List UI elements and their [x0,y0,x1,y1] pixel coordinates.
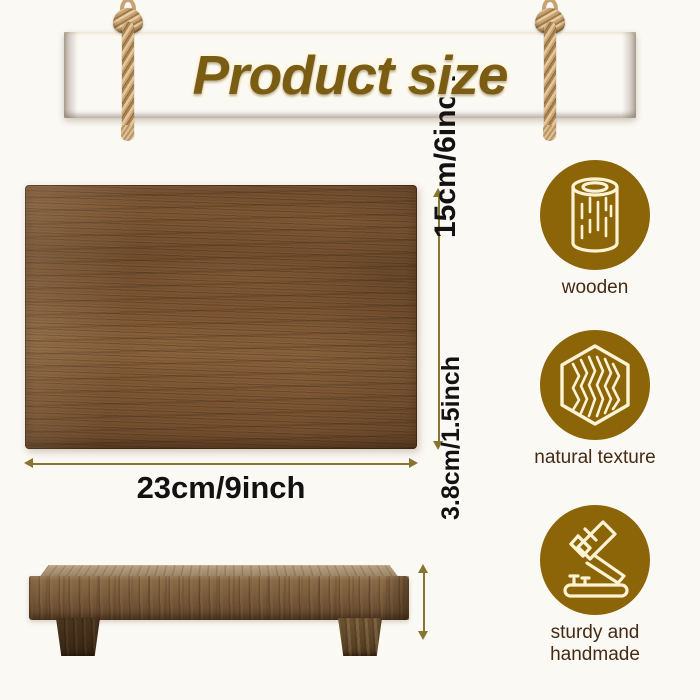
dimension-label-thickness: 3.8cm/1.5inch [437,356,466,520]
sign-banner: Product size [0,0,700,145]
product-image-riser-side-view [22,548,412,658]
feature-wooden: wooden [505,160,685,299]
riser-leg-right [338,618,382,656]
hexagon-grain-icon [540,330,650,440]
feature-badge-circle-sturdy [540,505,650,615]
riser-leg-left [56,618,100,656]
dimension-arrow-thickness [418,564,429,640]
feature-sturdy-handmade: sturdy and handmade [505,505,685,667]
riser-front-face [29,576,409,620]
hammer-nails-icon [540,505,650,615]
dimension-arrow-width [24,458,418,469]
page-title: Product size [64,32,636,118]
feature-label-line-1: sturdy and [505,622,685,644]
feature-label-sturdy-handmade: sturdy and handmade [505,622,685,667]
feature-label-natural-texture: natural texture [505,447,685,469]
wood-log-icon [540,160,650,270]
feature-badge-circle-wooden [540,160,650,270]
feature-label-line-2: handmade [505,644,685,666]
feature-natural-texture: natural texture [505,330,685,469]
feature-label-wooden: wooden [505,277,685,299]
feature-badge-circle-texture [540,330,650,440]
product-image-board-top-view [25,185,417,449]
dimension-label-width: 23cm/9inch [25,470,417,506]
